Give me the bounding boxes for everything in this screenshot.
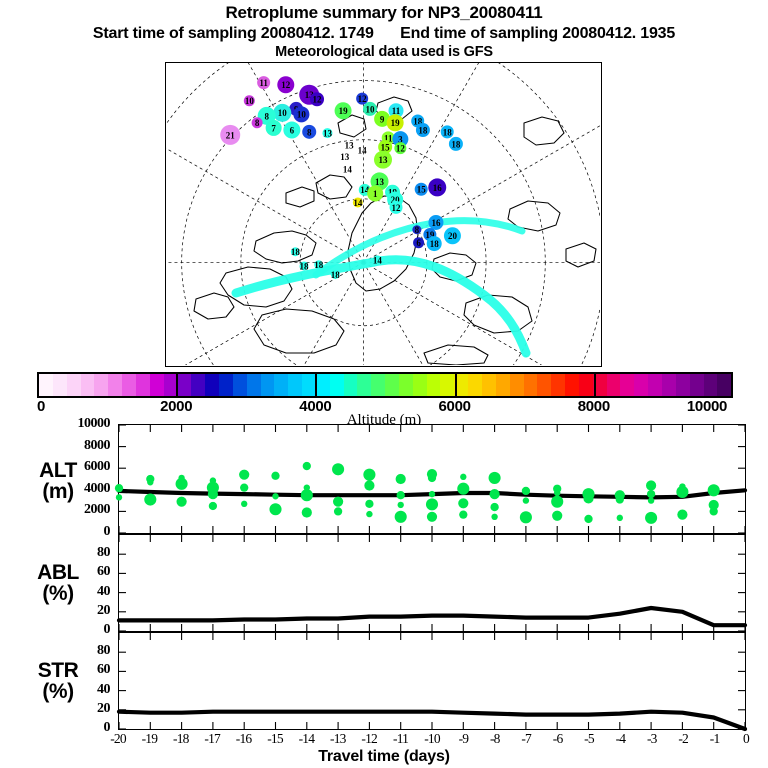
data-point xyxy=(333,497,343,507)
map-marker-label: 13 xyxy=(340,152,350,162)
data-point xyxy=(490,489,500,499)
colorbar-divider xyxy=(176,372,178,398)
data-point xyxy=(617,515,623,521)
colorbar-swatch xyxy=(579,374,593,396)
x-axis-tick-label: -11 xyxy=(393,731,408,747)
data-point xyxy=(116,494,122,500)
data-point xyxy=(709,500,719,510)
colorbar-divider xyxy=(594,372,596,398)
chart-panel-abl[interactable] xyxy=(118,534,746,632)
colorbar-swatch xyxy=(330,374,344,396)
y-axis-tick-label: 20 xyxy=(46,701,110,717)
colorbar-swatch xyxy=(648,374,662,396)
map-marker-label: 6 xyxy=(416,238,421,248)
y-axis-tick-label: 80 xyxy=(46,643,110,659)
colorbar-swatch xyxy=(302,374,316,396)
data-point xyxy=(551,496,563,508)
colorbar-swatch xyxy=(537,374,551,396)
data-point xyxy=(269,503,281,515)
y-axis-tick-label: 60 xyxy=(46,564,110,580)
map-marker-label: 18 xyxy=(418,125,428,135)
colorbar-swatch xyxy=(468,374,482,396)
colorbar-swatch xyxy=(551,374,565,396)
map-marker-label: 18 xyxy=(430,239,440,249)
altitude-colorbar[interactable] xyxy=(37,372,733,398)
colorbar-swatch xyxy=(344,374,358,396)
map-marker-label: 18 xyxy=(300,261,310,271)
map-marker-label: 10 xyxy=(297,110,307,120)
data-point xyxy=(144,493,156,505)
colorbar-swatch xyxy=(482,374,496,396)
x-axis-tick-label: -19 xyxy=(142,731,158,747)
sampling-times: Start time of sampling 20080412. 1749 En… xyxy=(0,25,768,43)
map-marker-label: 11 xyxy=(259,78,268,88)
polar-map[interactable]: 1112101312910810191011129191887682113113… xyxy=(165,62,602,367)
data-point xyxy=(365,500,373,508)
x-axis-tick-label: 0 xyxy=(743,731,749,747)
data-point xyxy=(239,470,249,480)
chart-svg-str xyxy=(119,633,745,729)
colorbar-swatch xyxy=(274,374,288,396)
y-axis-tick-label: 20 xyxy=(46,603,110,619)
colorbar-swatch xyxy=(565,374,579,396)
data-point xyxy=(459,510,467,518)
chart-panel-alt[interactable] xyxy=(118,424,746,534)
map-marker-label: 14 xyxy=(358,145,368,155)
x-axis-tick-label: -9 xyxy=(459,731,469,747)
data-point xyxy=(115,484,123,492)
y-axis-tick-label: 40 xyxy=(46,682,110,698)
map-marker-label: 10 xyxy=(245,96,255,106)
colorbar-swatch xyxy=(607,374,621,396)
map-marker-label: 16 xyxy=(433,183,443,193)
y-axis-tick-label: 40 xyxy=(46,584,110,600)
map-marker-label: 20 xyxy=(448,231,458,241)
x-axis-tick-label: -2 xyxy=(678,731,688,747)
data-point xyxy=(708,484,720,496)
data-point xyxy=(648,497,654,503)
x-axis-tick-label: -17 xyxy=(204,731,220,747)
data-point xyxy=(491,514,497,520)
y-axis-tick-label: 10000 xyxy=(46,416,110,432)
colorbar-swatch xyxy=(261,374,275,396)
colorbar-swatch xyxy=(620,374,634,396)
y-axis-tick-label: 4000 xyxy=(46,481,110,497)
x-axis-tick-label: -5 xyxy=(584,731,594,747)
colorbar-swatch xyxy=(510,374,524,396)
map-marker-label: 19 xyxy=(391,118,401,128)
map-marker-label: 15 xyxy=(417,185,427,195)
data-point xyxy=(301,489,313,501)
colorbar-divider xyxy=(315,372,317,398)
map-marker-label: 1 xyxy=(373,189,378,199)
colorbar-swatch xyxy=(108,374,122,396)
map-marker-label: 12 xyxy=(313,95,323,105)
colorbar-swatch xyxy=(676,374,690,396)
x-axis-tick-label: -4 xyxy=(616,731,626,747)
colorbar-swatch xyxy=(177,374,191,396)
colorbar-swatch xyxy=(371,374,385,396)
data-point xyxy=(395,511,407,523)
x-axis-tick-label: -6 xyxy=(553,731,563,747)
data-point xyxy=(522,487,530,495)
chart-svg-abl xyxy=(119,535,745,631)
x-axis-tick-label: -14 xyxy=(299,731,315,747)
colorbar-swatch xyxy=(440,374,454,396)
y-axis-tick-label: 80 xyxy=(46,545,110,561)
data-point xyxy=(490,503,498,511)
map-marker-label: 18 xyxy=(291,247,301,257)
data-point xyxy=(241,501,247,507)
colorbar-swatch xyxy=(690,374,704,396)
colorbar-swatch xyxy=(634,374,648,396)
data-point xyxy=(427,469,437,479)
data-point xyxy=(302,507,312,517)
map-marker-label: 13 xyxy=(345,141,355,151)
map-marker-label: 14 xyxy=(353,198,363,208)
y-axis-tick-label: 60 xyxy=(46,662,110,678)
data-point xyxy=(178,475,184,481)
y-axis-tick-label: 8000 xyxy=(46,438,110,454)
data-point xyxy=(646,480,656,490)
colorbar-swatch xyxy=(219,374,233,396)
data-point xyxy=(334,507,342,515)
data-point xyxy=(553,485,561,493)
map-marker-label: 21 xyxy=(226,130,236,140)
colorbar-swatch xyxy=(67,374,81,396)
map-marker-label: 12 xyxy=(392,203,402,213)
map-marker-label: 12 xyxy=(358,94,368,104)
x-axis-tick-label: -3 xyxy=(647,731,657,747)
map-marker-label: 14 xyxy=(343,165,353,175)
map-marker-label: 8 xyxy=(255,118,260,128)
colorbar-divider xyxy=(455,372,457,398)
map-marker-label: 12 xyxy=(281,80,291,90)
data-point xyxy=(177,497,187,507)
data-point xyxy=(209,502,217,510)
colorbar-swatch xyxy=(316,374,330,396)
x-axis-tick-label: -12 xyxy=(361,731,377,747)
colorbar-swatch xyxy=(122,374,136,396)
colorbar-swatch xyxy=(136,374,150,396)
data-point xyxy=(429,491,435,497)
x-axis-tick-label: -18 xyxy=(173,731,189,747)
colorbar-swatch xyxy=(191,374,205,396)
x-axis-tick-label: -8 xyxy=(490,731,500,747)
data-point xyxy=(366,511,372,517)
x-axis-title: Travel time (days) xyxy=(0,748,768,766)
map-marker-label: 7 xyxy=(271,123,276,133)
x-axis-tick-label: -7 xyxy=(521,731,531,747)
colorbar-swatch xyxy=(704,374,718,396)
colorbar-swatch xyxy=(39,374,53,396)
data-point xyxy=(240,483,248,491)
header-block: Retroplume summary for NP3_20080411 Star… xyxy=(0,0,768,60)
map-marker-label: 18 xyxy=(443,127,453,137)
map-marker-label: 14 xyxy=(373,255,383,265)
map-marker-label: 12 xyxy=(396,144,406,154)
colorbar-swatch xyxy=(662,374,676,396)
end-time-label: End time of sampling 20080412. 1935 xyxy=(400,25,675,42)
map-marker-label: 8 xyxy=(264,111,269,121)
data-point xyxy=(396,474,406,484)
colorbar-swatch xyxy=(524,374,538,396)
x-axis-tick-label: -10 xyxy=(424,731,440,747)
x-axis-tick-label: -15 xyxy=(267,731,283,747)
map-marker-label: 10 xyxy=(278,108,288,118)
map-marker-label: 6 xyxy=(290,125,295,135)
data-point xyxy=(647,490,655,498)
x-axis-tick-label: -1 xyxy=(710,731,720,747)
trend-line xyxy=(119,608,745,625)
data-point xyxy=(427,512,437,522)
colorbar-swatch xyxy=(413,374,427,396)
data-point xyxy=(272,493,278,499)
data-point xyxy=(363,469,375,481)
colorbar-swatch xyxy=(357,374,371,396)
data-point xyxy=(304,484,310,490)
data-point xyxy=(146,475,154,483)
data-point xyxy=(364,480,374,490)
y-axis-tick-label: 0 xyxy=(46,524,110,540)
map-marker-label: 8 xyxy=(415,225,420,235)
map-marker-label: 18 xyxy=(451,139,461,149)
y-axis-tick-label: 2000 xyxy=(46,502,110,518)
colorbar-swatch xyxy=(496,374,510,396)
data-point xyxy=(271,472,279,480)
data-point xyxy=(398,502,404,508)
colorbar-swatch xyxy=(150,374,164,396)
data-point xyxy=(552,511,562,521)
colorbar-swatch xyxy=(717,374,731,396)
data-point xyxy=(332,463,344,475)
colorbar-swatch xyxy=(247,374,261,396)
colorbar-swatch xyxy=(385,374,399,396)
map-marker-label: 10 xyxy=(365,104,375,114)
x-axis-tick-label: -20 xyxy=(110,731,126,747)
y-axis-tick-label: 0 xyxy=(46,622,110,638)
colorbar-swatch xyxy=(233,374,247,396)
met-data-label: Meteorological data used is GFS xyxy=(0,44,768,60)
map-marker-label: 9 xyxy=(380,114,385,124)
data-point xyxy=(489,472,501,484)
page-title: Retroplume summary for NP3_20080411 xyxy=(0,3,768,23)
start-time-label: Start time of sampling 20080412. 1749 xyxy=(93,25,374,42)
colorbar-swatch xyxy=(81,374,95,396)
data-point xyxy=(584,515,592,523)
data-point xyxy=(303,462,311,470)
colorbar-swatch xyxy=(205,374,219,396)
data-point xyxy=(582,488,594,500)
colorbar-swatch xyxy=(53,374,67,396)
colorbar-swatch xyxy=(288,374,302,396)
map-marker-label: 13 xyxy=(323,128,333,138)
data-point xyxy=(426,498,438,510)
data-point xyxy=(397,491,405,499)
map-marker-label: 16 xyxy=(431,218,441,228)
data-point xyxy=(210,477,216,483)
data-point xyxy=(679,483,685,489)
data-point xyxy=(520,511,532,523)
x-axis-tick-label: -16 xyxy=(236,731,252,747)
x-axis-tick-label: -13 xyxy=(330,731,346,747)
map-marker-label: 13 xyxy=(375,177,385,187)
map-marker-label: 13 xyxy=(379,155,389,165)
map-marker-label: 18 xyxy=(314,260,324,270)
map-marker-label: 19 xyxy=(339,106,349,116)
colorbar-swatch xyxy=(427,374,441,396)
data-point xyxy=(457,483,469,495)
data-point xyxy=(645,512,657,524)
data-point xyxy=(523,497,529,503)
map-canvas: 1112101312910810191011129191887682113113… xyxy=(166,63,600,365)
chart-panel-str[interactable] xyxy=(118,632,746,730)
data-point xyxy=(460,474,466,480)
map-marker-label: 18 xyxy=(331,270,341,280)
y-axis-tick-label: 6000 xyxy=(46,459,110,475)
map-marker-label: 8 xyxy=(307,127,312,137)
chart-svg-alt xyxy=(119,425,745,533)
data-point xyxy=(458,498,468,508)
colorbar-swatch xyxy=(399,374,413,396)
data-point xyxy=(615,490,625,500)
data-point xyxy=(677,510,687,520)
colorbar-swatch xyxy=(94,374,108,396)
